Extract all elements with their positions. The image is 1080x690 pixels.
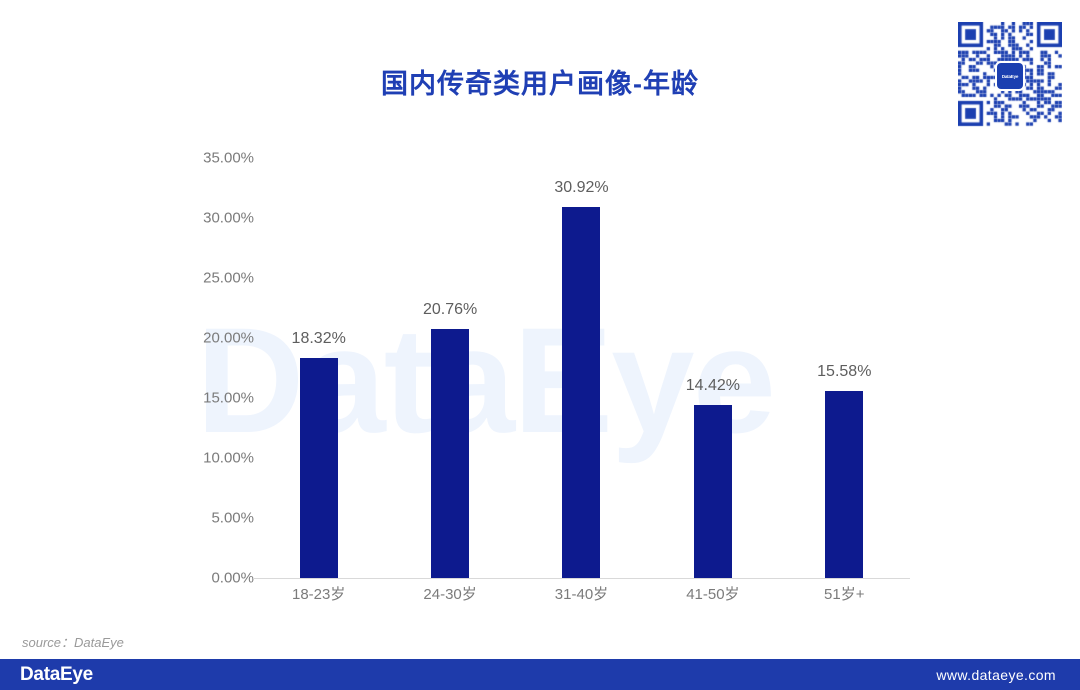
y-axis-tick-label: 30.00%	[168, 210, 254, 227]
bar[interactable]	[562, 207, 600, 578]
bar-value-label: 20.76%	[423, 301, 477, 319]
bar-value-label: 30.92%	[554, 179, 608, 197]
bar[interactable]	[694, 405, 732, 578]
y-axis-tick-label: 35.00%	[168, 150, 254, 167]
y-axis-tick-label: 0.00%	[168, 570, 254, 587]
y-axis-tick-label: 5.00%	[168, 510, 254, 527]
footer-url[interactable]: www.dataeye.com	[936, 667, 1056, 683]
bar-chart: DataEye 35.00%30.00%25.00%20.00%15.00%10…	[0, 0, 1080, 640]
y-axis-tick-label: 10.00%	[168, 450, 254, 467]
bar[interactable]	[300, 358, 338, 578]
source-note: source：DataEye	[22, 632, 124, 651]
y-axis-tick-label: 15.00%	[168, 390, 254, 407]
bar-value-label: 15.58%	[817, 363, 871, 381]
bar-group: 14.42%41-50岁	[647, 158, 778, 578]
bar-value-label: 14.42%	[686, 377, 740, 395]
y-axis-tick-label: 25.00%	[168, 270, 254, 287]
y-axis-tick-label: 20.00%	[168, 330, 254, 347]
x-axis-line	[253, 578, 910, 579]
x-axis-tick-label: 41-50岁	[686, 583, 739, 604]
plot-area: 18.32%18-23岁20.76%24-30岁30.92%31-40岁14.4…	[253, 158, 910, 578]
footer-bar: DataEye www.dataeye.com	[0, 659, 1080, 690]
bar-group: 18.32%18-23岁	[253, 158, 384, 578]
x-axis-tick-label: 24-30岁	[423, 583, 476, 604]
x-axis-tick-label: 51岁+	[824, 583, 864, 604]
bar[interactable]	[431, 329, 469, 578]
y-axis: 35.00%30.00%25.00%20.00%15.00%10.00%5.00…	[168, 0, 254, 640]
bar-group: 15.58%51岁+	[779, 158, 910, 578]
footer-logo: DataEye	[20, 664, 93, 686]
bar-group: 20.76%24-30岁	[384, 158, 515, 578]
x-axis-tick-label: 31-40岁	[555, 583, 608, 604]
bar[interactable]	[825, 391, 863, 578]
x-axis-tick-label: 18-23岁	[292, 583, 345, 604]
bar-group: 30.92%31-40岁	[516, 158, 647, 578]
bar-value-label: 18.32%	[292, 330, 346, 348]
